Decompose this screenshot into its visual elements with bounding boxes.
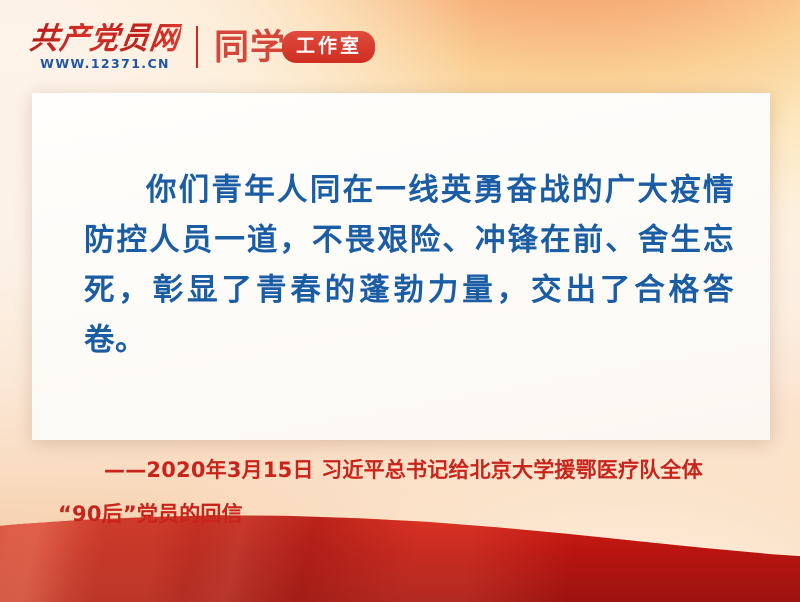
- site-logo[interactable]: 共产党员网 WWW.12371.CN: [30, 24, 194, 71]
- column-badge: 工作室: [282, 31, 375, 63]
- poster-root: 共产党员网 WWW.12371.CN 同学 工作室 你们青年人同在一线英勇奋战的…: [0, 0, 800, 602]
- site-url-text: WWW.12371.CN: [40, 56, 170, 71]
- logo-divider: [196, 26, 198, 68]
- column-logo[interactable]: 同学 工作室: [214, 30, 375, 65]
- site-name-text: 共产党员网: [28, 23, 182, 54]
- column-name-text: 同学: [214, 30, 286, 65]
- attribution-line-2: “90后”党员的回信: [58, 492, 770, 536]
- site-header: 共产党员网 WWW.12371.CN 同学 工作室: [30, 18, 375, 76]
- quote-card: 你们青年人同在一线英勇奋战的广大疫情防控人员一道，不畏艰险、冲锋在前、舍生忘死，…: [32, 93, 770, 440]
- attribution-line-1: ——2020年3月15日 习近平总书记给北京大学援鄂医疗队全体: [104, 448, 770, 492]
- quote-text: 你们青年人同在一线英勇奋战的广大疫情防控人员一道，不畏艰险、冲锋在前、舍生忘死，…: [84, 165, 734, 365]
- attribution: ——2020年3月15日 习近平总书记给北京大学援鄂医疗队全体 “90后”党员的…: [58, 448, 770, 536]
